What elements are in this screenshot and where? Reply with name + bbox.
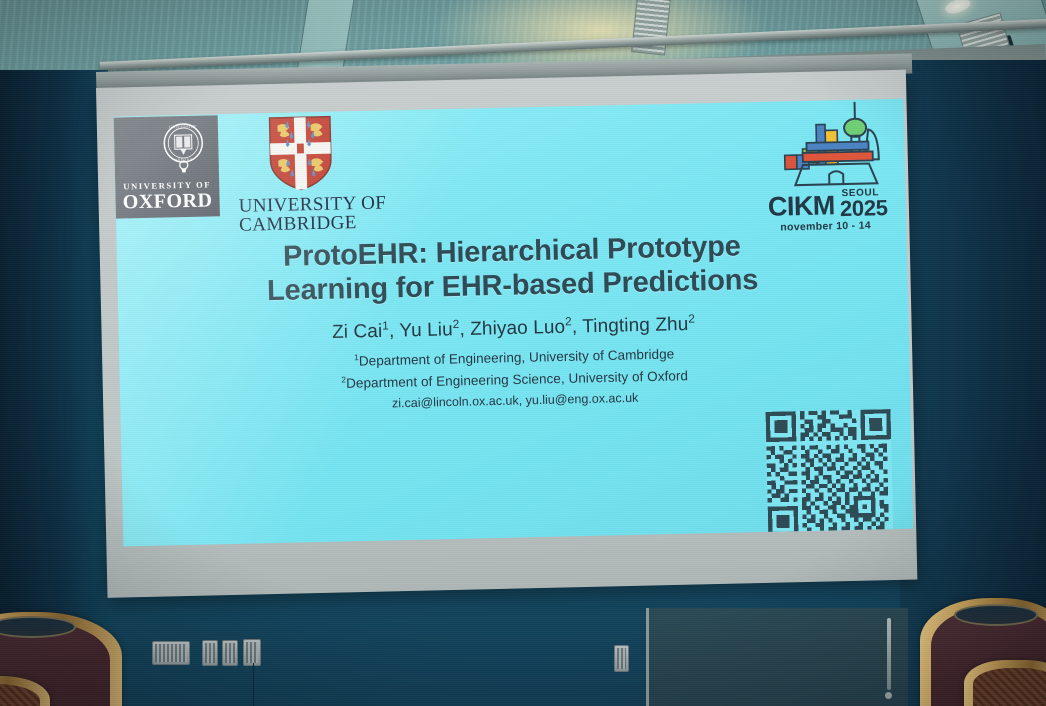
cikm-logo: CIKM SEOUL 2025 november 10 - 14 [762, 101, 905, 239]
ceiling-vent [631, 0, 671, 56]
oxford-crest-icon: UNIVERSITY OXFORD [158, 119, 209, 176]
oxford-logo: UNIVERSITY OXFORD UNIVERSITY OF OXFORD [114, 115, 220, 218]
plate-detail [617, 648, 626, 669]
cambridge-logo: UNIVERSITY OF CAMBRIDGE [237, 113, 412, 117]
power-outlet-plate[interactable] [614, 645, 629, 672]
qr-code-image [766, 409, 894, 537]
power-outlet-plate[interactable] [202, 640, 218, 666]
author-name: Yu Liu [399, 319, 453, 341]
door-knob-icon[interactable] [885, 692, 892, 699]
author-name: Zhiyao Luo [470, 317, 565, 340]
seoul-skyline-icon [772, 101, 896, 196]
banquet-chair-seat[interactable] [0, 676, 60, 706]
svg-text:UNIVERSITY: UNIVERSITY [169, 125, 197, 130]
affiliation-text: Department of Engineering, University of… [359, 346, 675, 368]
plate-detail [246, 642, 258, 663]
author-name: Zi Cai [332, 321, 383, 343]
qr-code[interactable] [766, 409, 894, 537]
power-outlet-plate[interactable] [222, 640, 238, 666]
cambridge-logo-line2: CAMBRIDGE [239, 212, 414, 235]
av-wall-plate[interactable] [152, 641, 190, 665]
meeting-room-door[interactable] [646, 608, 908, 706]
oxford-logo-line2: OXFORD [123, 190, 213, 212]
photo-scene: UNIVERSITY OXFORD UNIVERSITY OF OXFORD [0, 0, 1046, 706]
data-outlet-plate[interactable] [243, 639, 261, 666]
author-marker: 2 [565, 315, 572, 328]
plate-detail [205, 643, 215, 663]
plate-detail [155, 644, 187, 662]
affiliation-text: Department of Engineering Science, Unive… [346, 368, 688, 391]
banquet-chair-second[interactable] [964, 660, 1046, 706]
plate-detail [225, 643, 235, 663]
author-marker: 1 [382, 319, 389, 332]
presentation-slide: UNIVERSITY OXFORD UNIVERSITY OF OXFORD [114, 99, 914, 547]
hanging-cable [253, 663, 254, 706]
author-name: Tingting Zhu [582, 314, 689, 337]
door-handle[interactable] [887, 618, 891, 690]
author-marker: 2 [453, 318, 460, 331]
cambridge-logo-text: UNIVERSITY OF CAMBRIDGE [239, 193, 415, 235]
cambridge-shield-icon [267, 115, 335, 192]
projector-screen: UNIVERSITY OXFORD UNIVERSITY OF OXFORD [96, 70, 917, 598]
slide-title: ProtoEHR: Hierarchical Prototype Learnin… [117, 227, 908, 313]
light-bulb-icon [943, 0, 972, 16]
author-marker: 2 [688, 312, 695, 325]
cikm-year: 2025 [840, 195, 888, 222]
wall-left-shadow [0, 70, 108, 706]
